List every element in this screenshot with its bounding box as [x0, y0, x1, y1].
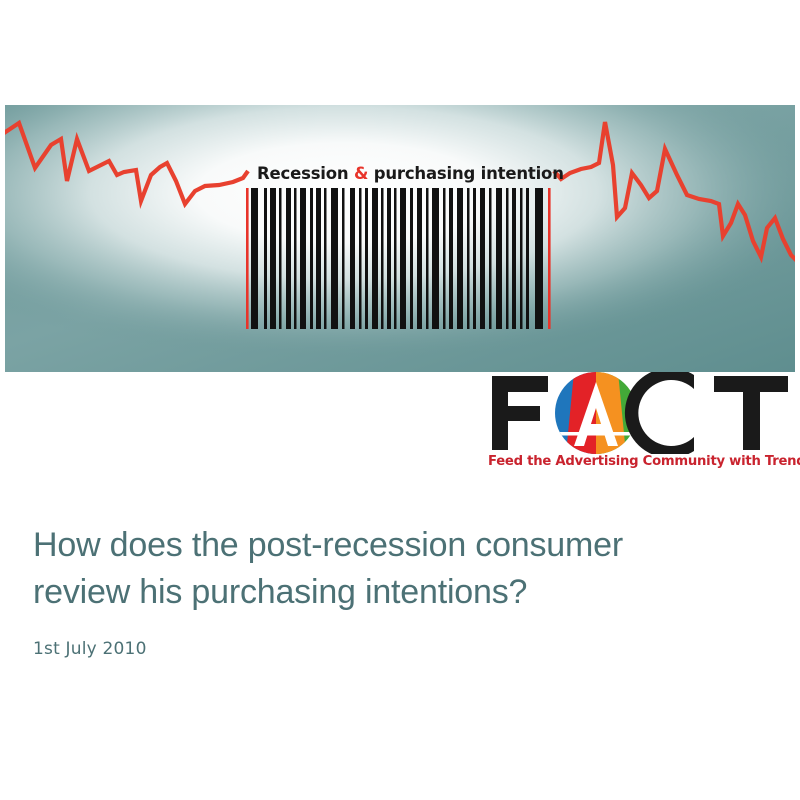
page-title-line-1: How does the post-recession consumer: [33, 522, 763, 569]
fact-logo: Feed the Advertising Community with Tren…: [488, 372, 794, 480]
barcode-label: Recession & purchasing intention: [257, 160, 545, 188]
logo-letter-c: [625, 372, 702, 454]
barcode-label-prefix: Recession: [257, 164, 354, 183]
barcode-bars: [243, 188, 558, 329]
presentation-slide: Recession & purchasing intention: [0, 0, 800, 800]
barcode-graphic: Recession & purchasing intention: [243, 160, 558, 360]
page-title: How does the post-recession consumer rev…: [33, 522, 763, 616]
logo-letter-f: [492, 376, 548, 450]
barcode-label-suffix: purchasing intention: [368, 164, 564, 183]
fact-tagline: Feed the Advertising Community with Tren…: [488, 454, 794, 469]
title-block: How does the post-recession consumer rev…: [33, 522, 763, 659]
barcode-label-ampersand: &: [354, 164, 368, 183]
hero-banner: Recession & purchasing intention: [5, 105, 795, 372]
fact-wordmark: [488, 372, 794, 454]
slide-date: 1st July 2010: [33, 639, 763, 659]
page-title-line-2: review his purchasing intentions?: [33, 569, 763, 616]
logo-letter-t: [714, 376, 788, 450]
